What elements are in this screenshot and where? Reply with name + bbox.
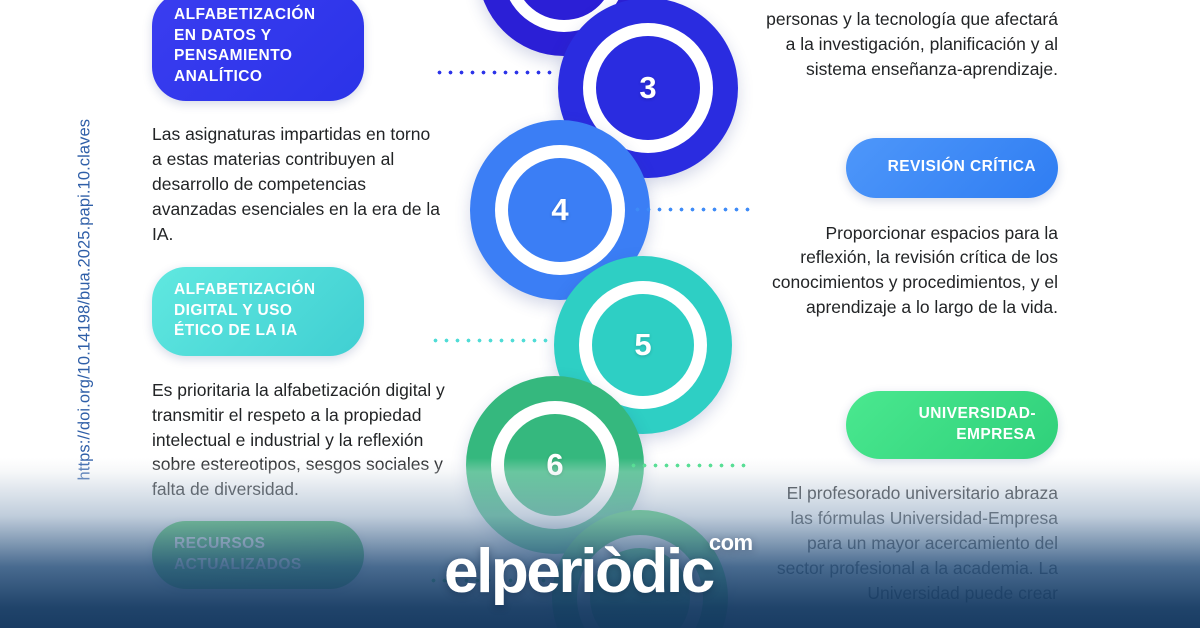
badge-universidad-empresa[interactable]: UNIVERSIDAD-EMPRESA	[846, 391, 1058, 459]
block-recursos-actualizados: RECURSOS ACTUALIZADOS	[152, 521, 464, 589]
block-alfabetizacion-datos: ALFABETIZACIÓN EN DATOS Y PENSAMIENTO AN…	[152, 0, 464, 247]
block-universidad-empresa: UNIVERSIDAD-EMPRESA El profesorado unive…	[746, 391, 1058, 605]
badge-recursos-actualizados[interactable]: RECURSOS ACTUALIZADOS	[152, 521, 364, 589]
ring-3-core: 3	[596, 36, 700, 140]
block-cambio-relacion: cambio en la relación de las personas y …	[746, 0, 1058, 81]
left-white-gutter	[0, 0, 16, 628]
logo-tld: com	[709, 530, 753, 555]
left-content-column: ALFABETIZACIÓN EN DATOS Y PENSAMIENTO AN…	[152, 0, 464, 628]
doi-vertical-text[interactable]: https://doi.org/10.14198/bua.2025.papi.1…	[76, 11, 95, 481]
infographic-canvas: 2 3 4 5 6	[0, 0, 1200, 628]
body-universidad-empresa: El profesorado universitario abraza las …	[766, 481, 1058, 605]
ring-4-core: 4	[508, 158, 612, 262]
body-alfabetizacion-digital: Es prioritaria la alfabetización digital…	[152, 378, 452, 502]
block-revision-critica: REVISIÓN CRÍTICA Proporcionar espacios p…	[746, 138, 1058, 320]
ring-5-core: 5	[592, 294, 694, 396]
ring-6-core: 6	[504, 414, 606, 516]
body-alfabetizacion-datos: Las asignaturas impartidas en torno a es…	[152, 122, 440, 246]
body-revision-critica: Proporcionar espacios para la reflexión,…	[766, 221, 1058, 320]
badge-revision-critica[interactable]: REVISIÓN CRÍTICA	[846, 138, 1058, 198]
right-content-column: cambio en la relación de las personas y …	[746, 0, 1058, 628]
badge-alfabetizacion-datos[interactable]: ALFABETIZACIÓN EN DATOS Y PENSAMIENTO AN…	[152, 0, 364, 101]
block-alfabetizacion-digital: ALFABETIZACIÓN DIGITAL Y USO ÉTICO DE LA…	[152, 267, 464, 502]
badge-alfabetizacion-digital[interactable]: ALFABETIZACIÓN DIGITAL Y USO ÉTICO DE LA…	[152, 267, 364, 356]
body-cambio-relacion: cambio en la relación de las personas y …	[766, 0, 1058, 81]
logo-wordmark: elperiòdic	[444, 537, 713, 606]
connector-dots-right-2	[628, 463, 746, 468]
elperiodic-logo[interactable]: elperiòdiccom	[444, 541, 757, 603]
